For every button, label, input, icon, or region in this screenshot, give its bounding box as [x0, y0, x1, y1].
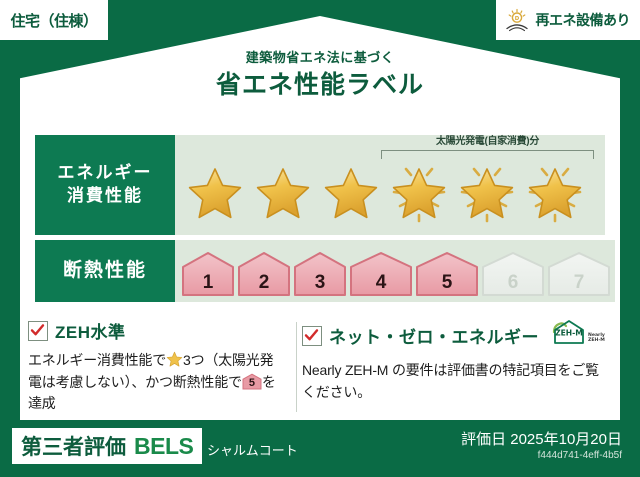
criteria-section: ZEH水準 エネルギー消費性能で3つ（太陽光発電は考慮しない）、かつ断熱性能で5…	[28, 318, 612, 415]
star-icon	[453, 159, 521, 229]
insulation-grade-scale: 1 2	[181, 251, 611, 300]
star-icon	[317, 159, 385, 229]
star-icon	[181, 159, 249, 229]
insulation-performance-label: 断熱性能	[35, 240, 175, 302]
criterion-net-zero-energy-body: Nearly ZEH-M の要件は評価書の特記項目をご覧ください。	[302, 360, 612, 403]
star-icon	[166, 351, 183, 368]
criterion-zeh-standard-title: ZEH水準	[55, 318, 126, 343]
insulation-grade-value: 5	[415, 273, 479, 292]
insulation-grade-badge: 5	[415, 251, 479, 297]
bels-logo-text: BELS	[134, 433, 193, 460]
insulation-grade-value: 2	[237, 273, 291, 292]
insulation-grade-badge: 1	[181, 251, 235, 297]
grade-badge-inline: 5	[242, 373, 262, 390]
page-title: 建築物省エネ法に基づく 省エネ性能ラベル	[0, 50, 640, 100]
insulation-grade-value: 3	[293, 273, 347, 292]
insulation-grade-badge: 2	[237, 251, 291, 297]
title-subtitle: 建築物省エネ法に基づく	[0, 50, 640, 66]
svg-text:ZEH-M: ZEH-M	[588, 337, 605, 343]
star-icon	[385, 159, 453, 229]
energy-performance-label: 住宅（住棟） D 再エネ設備あり 建築物省エネ法に基づく 省エネ性能ラベ	[0, 0, 640, 477]
zeh-m-logo-icon: ZEH-M Nearly ZEH-M	[550, 318, 612, 353]
grade-badge-inline-value: 5	[242, 378, 262, 389]
criteria-divider	[296, 322, 297, 412]
criterion-net-zero-energy: ネット・ゼロ・エネルギー ZEH-M Nearly ZEH-M Nearly Z…	[294, 318, 612, 415]
evaluation-id: f444d741-4eff-4b5f	[538, 450, 622, 461]
insulation-performance-row: 断熱性能 1	[35, 240, 605, 302]
criterion-net-zero-energy-title: ネット・ゼロ・エネルギー	[329, 323, 539, 348]
energy-label-line2: 消費性能	[67, 185, 143, 208]
check-icon	[302, 326, 322, 346]
insulation-grade-badge: 6	[481, 251, 545, 297]
insulation-grade-badge: 7	[547, 251, 611, 297]
title-main: 省エネ性能ラベル	[0, 70, 640, 100]
label-footer: 第三者評価 BELS シャルムコート 評価日 2025年10月20日 f444d…	[0, 420, 640, 477]
insulation-grades-panel: 1 2	[175, 240, 615, 302]
insulation-grade-badge: 3	[293, 251, 347, 297]
evaluation-date: 評価日 2025年10月20日	[461, 428, 622, 449]
property-name: シャルムコート	[207, 440, 298, 459]
solar-generation-bracket: 太陽光発電(自家消費)分	[381, 137, 594, 169]
criterion-zeh-standard-body: エネルギー消費性能で3つ（太陽光発電は考慮しない）、かつ断熱性能で5を達成	[28, 350, 278, 415]
zeh-body-part1: エネルギー消費性能で	[28, 352, 166, 368]
criterion-net-zero-energy-header: ネット・ゼロ・エネルギー ZEH-M Nearly ZEH-M	[302, 318, 612, 353]
star-icon	[249, 159, 317, 229]
criterion-zeh-standard: ZEH水準 エネルギー消費性能で3つ（太陽光発電は考慮しない）、かつ断熱性能で5…	[28, 318, 278, 415]
renewable-equipment-badge: D 再エネ設備あり	[496, 0, 640, 40]
third-party-evaluation-label: 第三者評価	[21, 431, 126, 461]
bels-evaluation-mark: 第三者評価 BELS	[12, 428, 202, 464]
insulation-grade-value: 1	[181, 273, 235, 292]
renewable-badge-label: 再エネ設備あり	[536, 10, 631, 30]
solar-bracket-label: 太陽光発電(自家消費)分	[381, 137, 594, 147]
svg-text:D: D	[514, 16, 519, 22]
solar-bracket-line	[381, 150, 594, 159]
star-icon	[521, 159, 589, 229]
insulation-grade-badge: 4	[349, 251, 413, 297]
energy-performance-label: エネルギー 消費性能	[35, 135, 175, 235]
check-icon	[28, 321, 48, 341]
insulation-grade-value: 6	[481, 273, 545, 292]
nze-body-part1: Nearly ZEH-M の要件は評価書の特記項目をご覧ください。	[302, 362, 599, 400]
criterion-zeh-standard-header: ZEH水準	[28, 318, 278, 343]
building-type-badge-label: 住宅（住棟）	[10, 10, 97, 31]
svg-text:ZEH-M: ZEH-M	[555, 329, 583, 338]
insulation-grade-value: 4	[349, 273, 413, 292]
insulation-grade-value: 7	[547, 273, 611, 292]
building-type-badge: 住宅（住棟）	[0, 0, 108, 40]
insulation-label-text: 断熱性能	[63, 258, 147, 284]
star-rating	[181, 159, 589, 233]
sun-renewable-icon: D	[504, 8, 530, 32]
energy-label-line1: エネルギー	[58, 162, 153, 185]
